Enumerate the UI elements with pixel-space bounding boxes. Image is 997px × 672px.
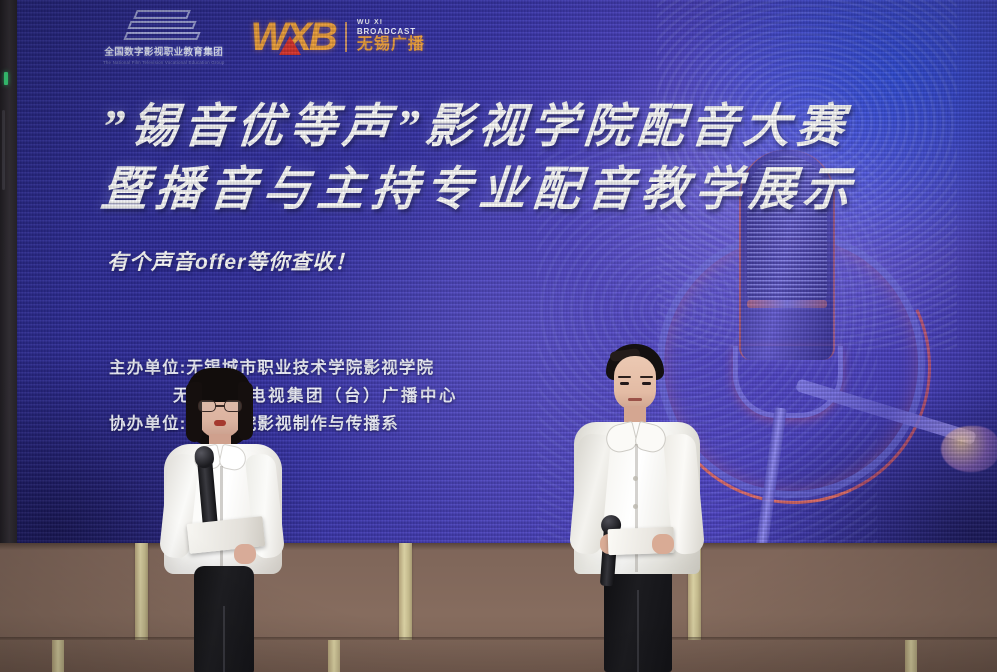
mic-band-icon — [747, 300, 827, 308]
host-lips — [214, 420, 226, 426]
broadcaster-name-en-line1: WU XI — [357, 19, 425, 26]
education-group-name-cn: 全国数字影视职业教育集团 — [104, 44, 223, 58]
logo-divider — [345, 22, 347, 52]
screen-logo-row: 全国数字影视职业教育集团 The National Film Televisio… — [103, 8, 425, 65]
mic-boom-knob-icon — [941, 426, 997, 472]
event-title-line-2: 暨播音与主持专业配音教学展示 — [98, 159, 924, 222]
stage-base-band — [0, 640, 997, 672]
broadcaster-name-cn: 无锡广播 — [357, 37, 425, 54]
column-highlight — [2, 110, 5, 190]
host-eye-right — [642, 382, 651, 385]
stage-left-column — [0, 0, 17, 545]
host-mouth — [628, 398, 642, 401]
host-hair-left — [186, 382, 202, 442]
education-group-name-en: The National Film Television Vocational … — [103, 60, 224, 65]
male-host — [566, 344, 706, 672]
host-right-hand — [234, 544, 256, 564]
female-host — [156, 368, 288, 672]
event-subtitle: 有个声音offer等你查收！ — [107, 246, 356, 276]
broadcaster-name-en-line2: BROADCAST — [357, 28, 425, 36]
building-mark-icon — [125, 8, 203, 42]
host-eye-left — [620, 382, 629, 385]
stage-photo-scene: 全国数字影视职业教育集团 The National Film Televisio… — [0, 0, 997, 672]
event-title-block: ”锡音优等声”影视学院配音大赛 暨播音与主持专业配音教学展示 — [101, 96, 921, 223]
event-title-line-1: ”锡音优等声”影视学院配音大赛 — [98, 96, 924, 159]
wxb-monogram: WXB — [250, 17, 334, 57]
education-group-logo: 全国数字影视职业教育集团 The National Film Televisio… — [103, 8, 224, 65]
wuxi-broadcast-logo: WXB WU XI BROADCAST 无锡广播 — [250, 17, 424, 57]
host-shirt-placket — [220, 466, 223, 572]
eyeglasses-icon — [198, 400, 242, 412]
mic-yoke-icon — [733, 346, 843, 418]
stage-front-wall — [0, 543, 997, 672]
host-black-trousers — [604, 566, 672, 672]
host-right-hand — [652, 534, 674, 554]
host-black-trousers — [194, 566, 254, 672]
power-indicator-led — [4, 72, 8, 85]
